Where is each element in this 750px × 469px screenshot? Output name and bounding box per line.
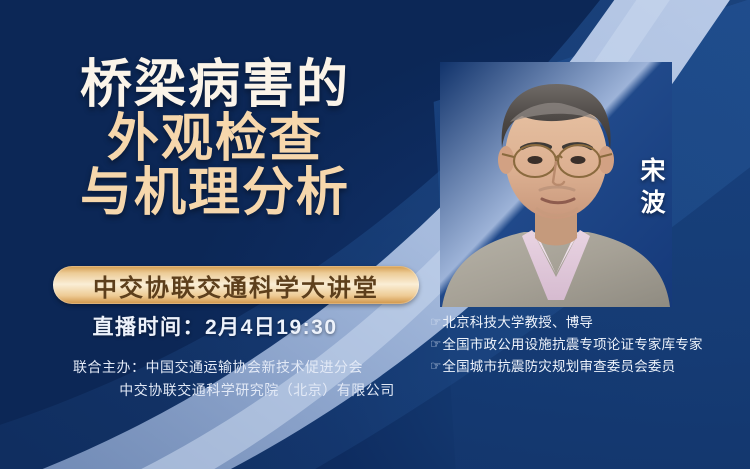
series-badge-label: 中交协联交通科学大讲堂 bbox=[93, 268, 379, 303]
credential-text-1: 北京科技大学教授、博导 bbox=[442, 312, 593, 334]
series-badge: 中交协联交通科学大讲堂 bbox=[53, 266, 419, 304]
credential-text-3: 全国城市抗震防灾规划审查委员会委员 bbox=[442, 356, 675, 378]
speaker-credentials: ☞ 北京科技大学教授、博导 ☞ 全国市政公用设施抗震专项论证专家库专家 ☞ 全国… bbox=[430, 312, 748, 378]
title-line-1: 桥梁病害的 bbox=[0, 58, 430, 112]
speaker-name: 宋 波 bbox=[631, 155, 677, 219]
organizers: 联合主办：中国交通运输协会新技术促进分会 中交协联交通科学研究院（北京）有限公司 bbox=[0, 356, 436, 402]
credential-row-1: ☞ 北京科技大学教授、博导 bbox=[430, 312, 748, 334]
title-line-3: 与机理分析 bbox=[0, 166, 430, 220]
speaker-name-char-2: 波 bbox=[631, 187, 677, 219]
pointing-hand-icon: ☞ bbox=[430, 312, 441, 332]
credential-text-2: 全国市政公用设施抗震专项论证专家库专家 bbox=[442, 334, 702, 356]
live-time: 直播时间：2月4日19:30 bbox=[0, 311, 430, 341]
title-line-2: 外观检查 bbox=[0, 112, 430, 166]
organizer-line-2: 中交协联交通科学研究院（北京）有限公司 bbox=[0, 379, 436, 402]
page-title: 桥梁病害的 外观检查 与机理分析 bbox=[0, 58, 430, 220]
webinar-poster: 桥梁病害的 外观检查 与机理分析 中交协联交通科学大讲堂 直播时间：2月4日19… bbox=[0, 0, 750, 469]
organizer-line-1: 联合主办：中国交通运输协会新技术促进分会 bbox=[0, 356, 436, 379]
pointing-hand-icon: ☞ bbox=[430, 356, 441, 376]
credential-row-3: ☞ 全国城市抗震防灾规划审查委员会委员 bbox=[430, 356, 748, 378]
speaker-name-char-1: 宋 bbox=[631, 155, 677, 187]
pointing-hand-icon: ☞ bbox=[430, 334, 441, 354]
credential-row-2: ☞ 全国市政公用设施抗震专项论证专家库专家 bbox=[430, 334, 748, 356]
